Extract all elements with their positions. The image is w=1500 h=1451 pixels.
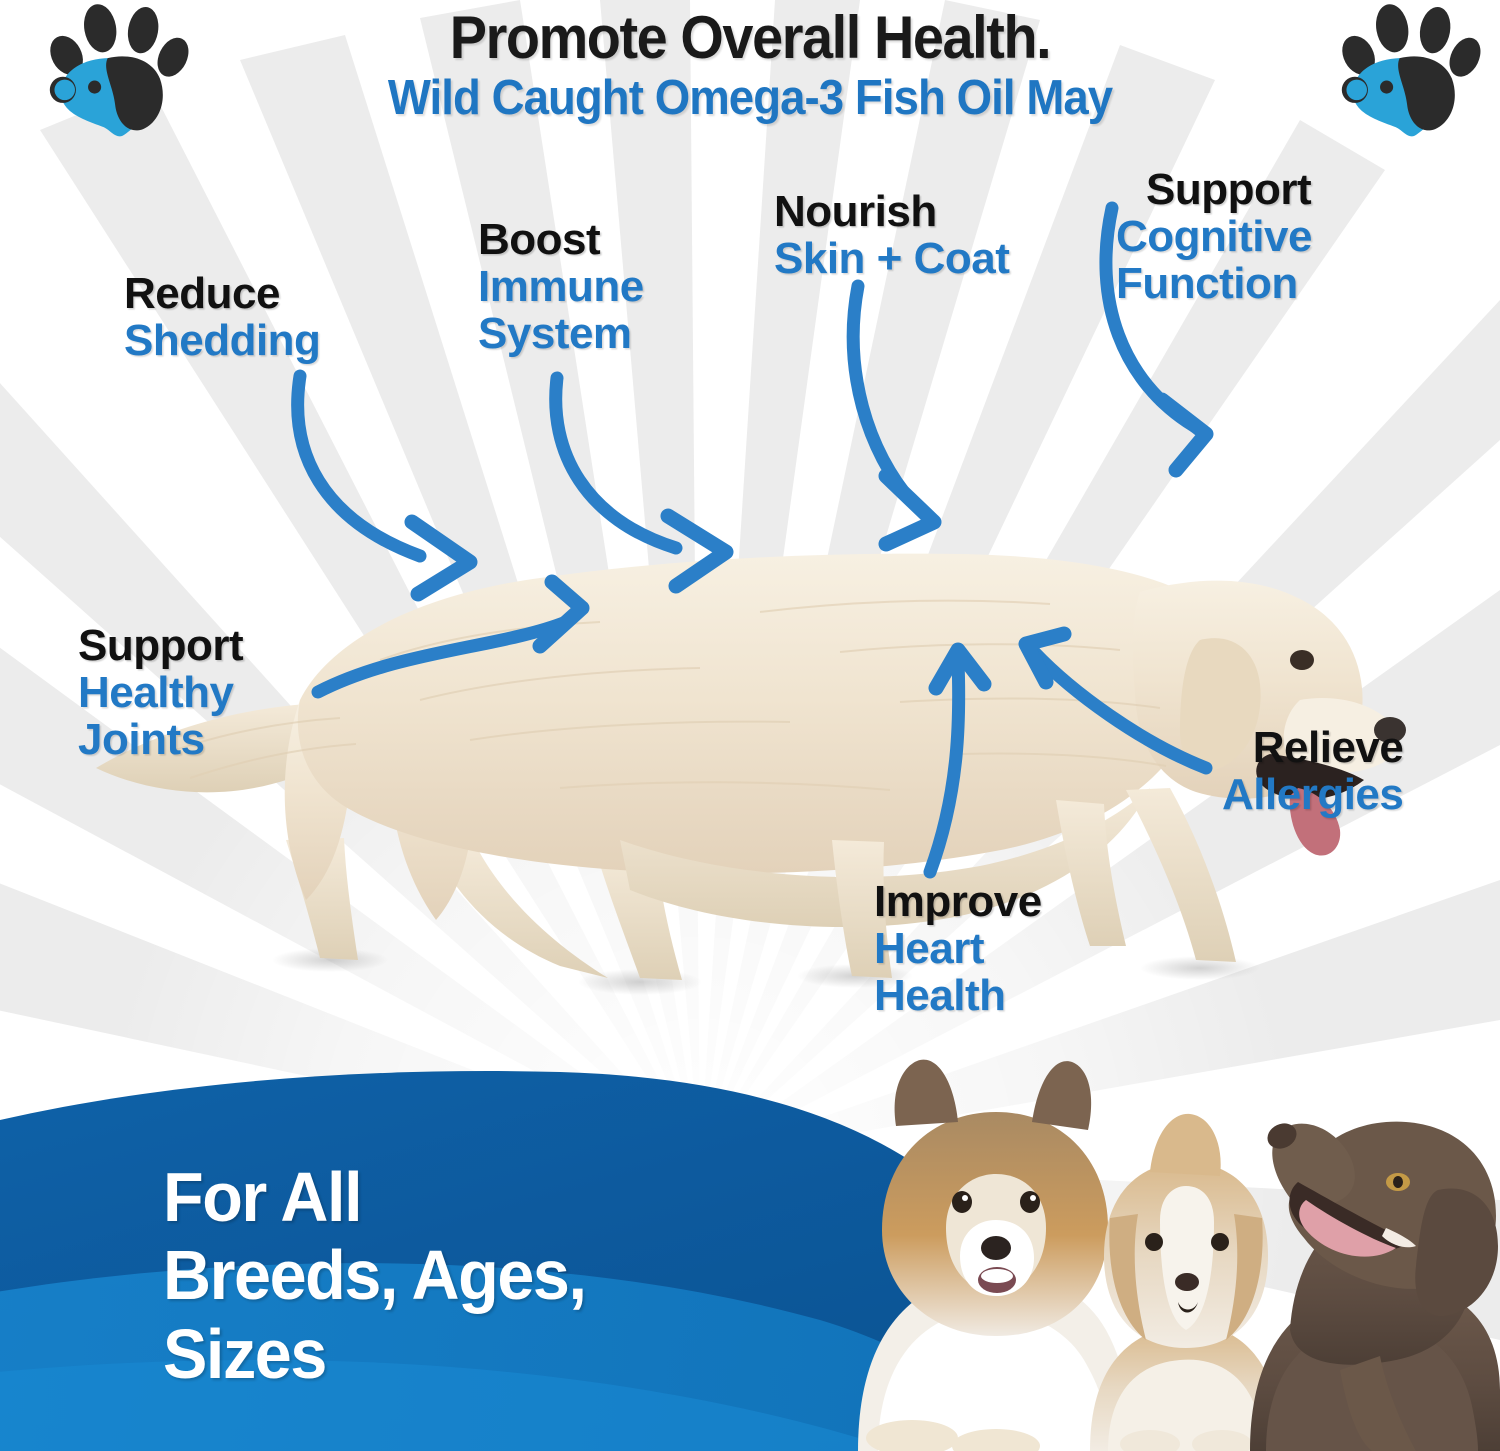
dog-small-terrier [1090,1114,1278,1451]
callout-nourish-skin-coat: Nourish Skin + Coat [774,190,1009,282]
callout-header: Improve [874,880,1042,925]
callout-header: Nourish [774,190,1009,235]
callout-header: Reduce [124,272,320,317]
callout-body: Healthy [78,671,243,716]
banner-line-3: Sizes [163,1315,586,1393]
callout-body: Function [1116,262,1312,307]
callout-body: Immune [478,265,644,310]
callout-body: Cognitive [1116,215,1312,260]
callout-body: Health [874,974,1042,1019]
callout-header: Support [78,624,243,669]
callout-body: Heart [874,927,1042,972]
callout-header: Support [1116,168,1312,213]
callout-reduce-shedding: Reduce Shedding [124,272,320,364]
callout-body: Allergies [1222,773,1403,818]
callout-body: Skin + Coat [774,237,1009,282]
page-title: Promote Overall Health. [220,8,1280,68]
banner-headline: For All Breeds, Ages, Sizes [163,1158,608,1393]
callout-support-healthy-joints: Support Healthy Joints [78,624,243,763]
three-dogs-image [820,1030,1500,1451]
callout-body: System [478,312,644,357]
callout-support-cognitive-function: Support Cognitive Function [1116,168,1312,307]
callout-header: Relieve [1222,726,1403,771]
paw-dog-logo-icon [1334,4,1484,144]
callout-body: Joints [78,718,243,763]
title-block: Promote Overall Health. Wild Caught Omeg… [180,0,1320,148]
dog-weimaraner [1250,1119,1500,1451]
infographic-canvas: Promote Overall Health. Wild Caught Omeg… [0,0,1500,1451]
callout-boost-immune-system: Boost Immune System [478,218,644,357]
banner-line-1: For All [163,1158,586,1236]
callout-header: Boost [478,218,644,263]
paw-dog-logo-icon [42,4,192,144]
callout-body: Shedding [124,319,320,364]
page-subtitle: Wild Caught Omega-3 Fish Oil May [220,74,1280,123]
header: Promote Overall Health. Wild Caught Omeg… [0,0,1500,150]
dog-shetland-sheepdog [858,1060,1132,1451]
callout-improve-heart-health: Improve Heart Health [874,880,1042,1019]
callout-relieve-allergies: Relieve Allergies [1222,726,1403,818]
banner-line-2: Breeds, Ages, [163,1236,586,1314]
